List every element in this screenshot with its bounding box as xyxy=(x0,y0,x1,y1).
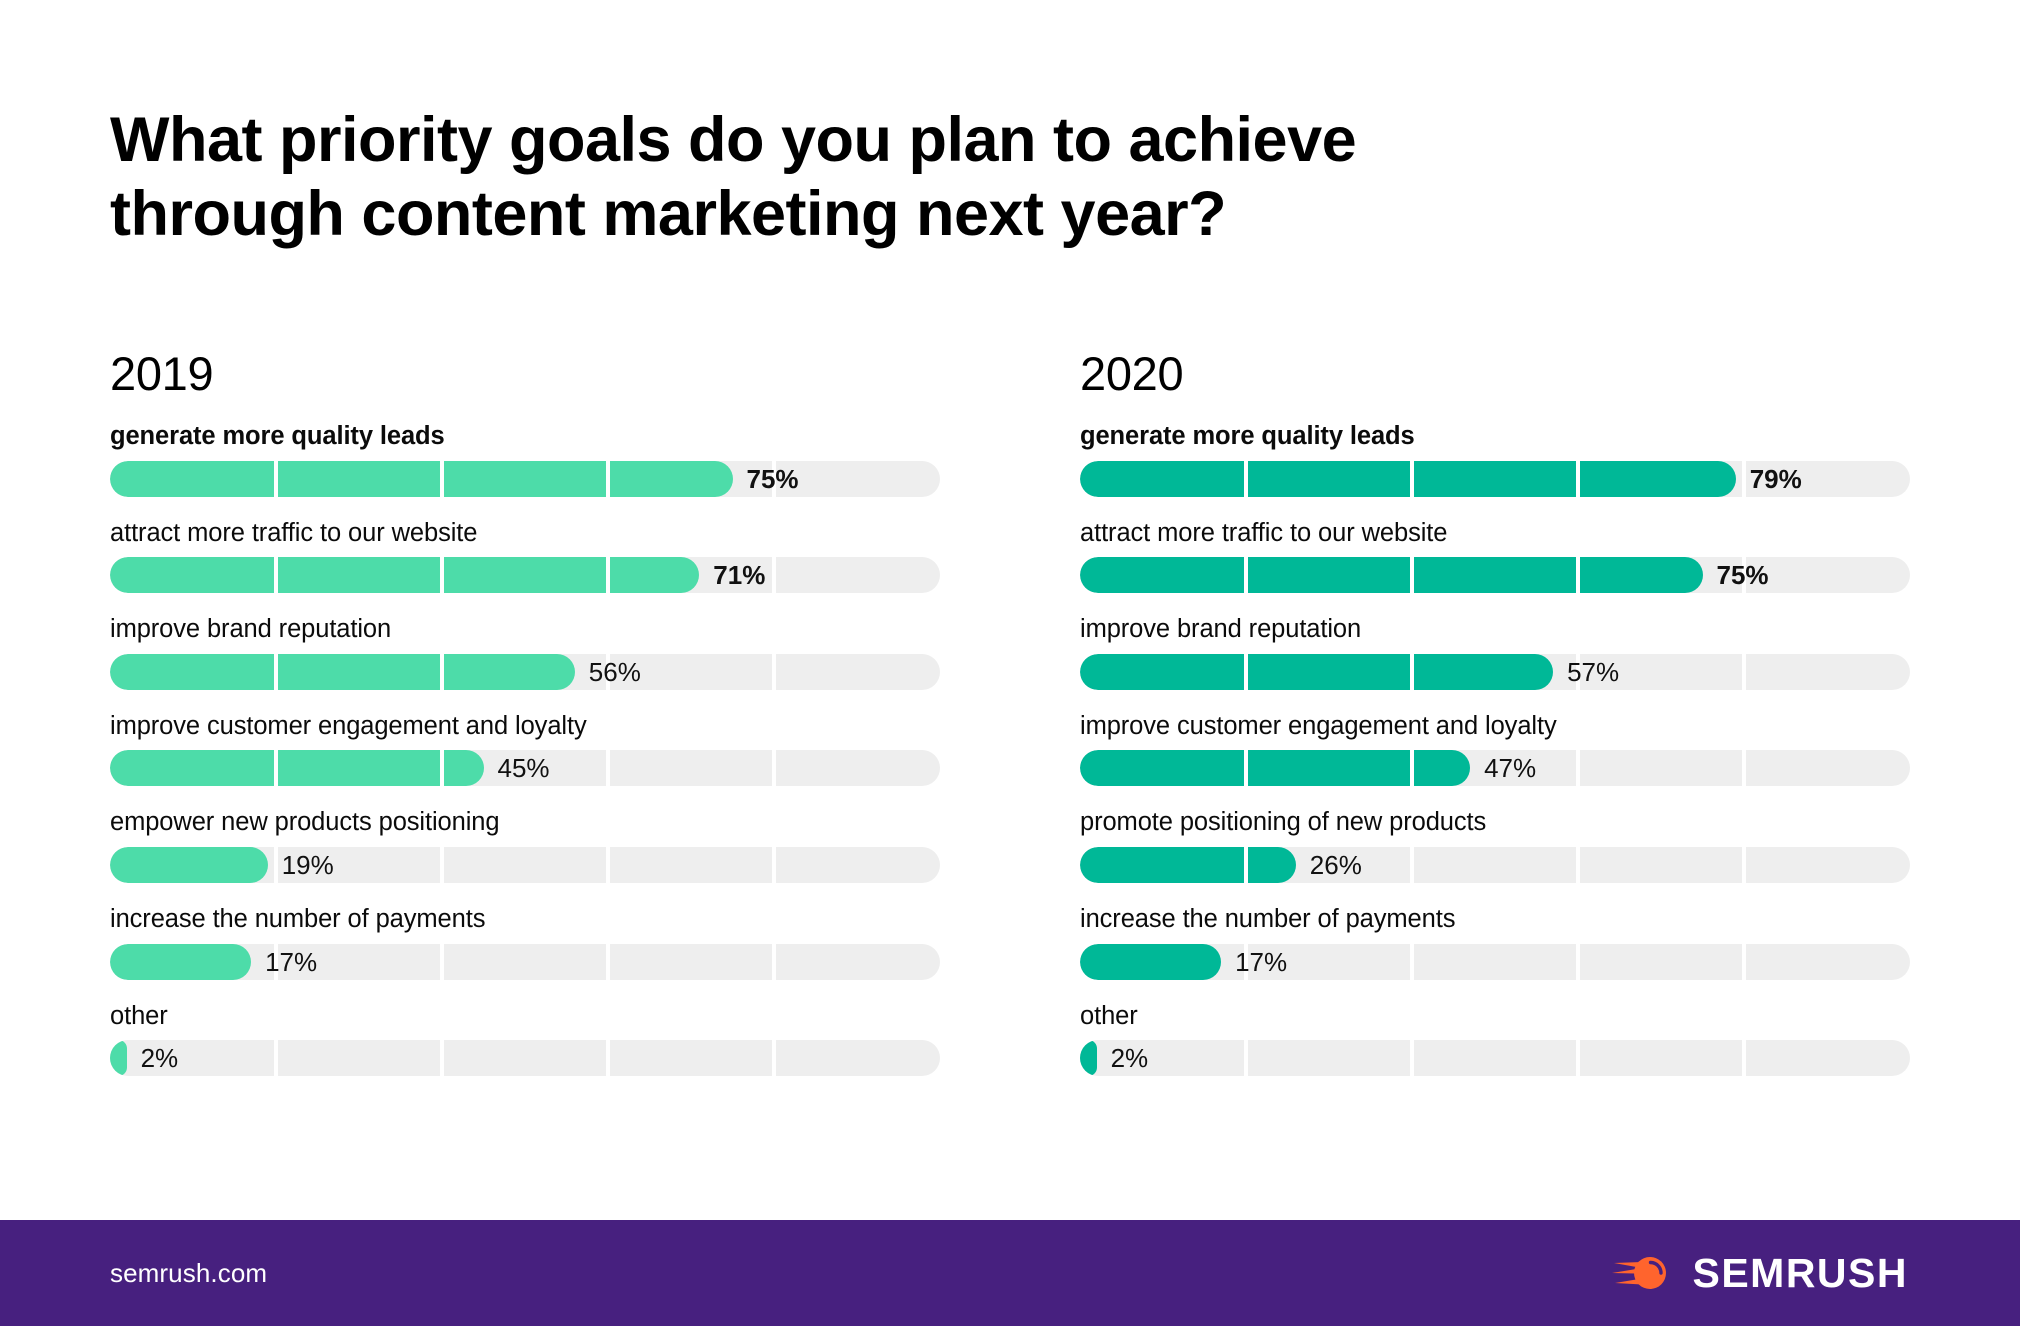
segment-divider xyxy=(606,1040,610,1076)
bar-row: other2% xyxy=(1080,1001,1910,1077)
bar-track: 57% xyxy=(1080,654,1910,690)
segment-divider xyxy=(1576,847,1580,883)
bar-row: improve brand reputation57% xyxy=(1080,614,1910,690)
bar-fill xyxy=(110,557,699,593)
segment-divider xyxy=(440,847,444,883)
bar-value-label: 17% xyxy=(1221,944,1287,980)
bar-value-label: 75% xyxy=(733,461,799,497)
semrush-wordmark: SEMRUSH xyxy=(1692,1250,1908,1297)
bar-track: 17% xyxy=(110,944,940,980)
bar-fill xyxy=(1080,557,1703,593)
segment-divider xyxy=(772,750,776,786)
bar-row: empower new products positioning19% xyxy=(110,807,940,883)
bar-row: increase the number of payments17% xyxy=(1080,904,1910,980)
segment-divider xyxy=(1410,1040,1414,1076)
bar-track: 75% xyxy=(110,461,940,497)
bar-value-label: 75% xyxy=(1703,557,1769,593)
segment-divider xyxy=(1742,847,1746,883)
bar-track: 19% xyxy=(110,847,940,883)
footer-bar: semrush.com SEMRUSH xyxy=(0,1220,2020,1326)
segment-divider xyxy=(440,1040,444,1076)
page-title: What priority goals do you plan to achie… xyxy=(110,104,1830,251)
segment-divider xyxy=(772,557,776,593)
bar-fill xyxy=(110,750,484,786)
bar-fill xyxy=(110,1040,127,1076)
segment-divider xyxy=(1576,750,1580,786)
bar-track: 45% xyxy=(110,750,940,786)
year-column-2019: 2019generate more quality leads75%attrac… xyxy=(110,350,940,1076)
bar-value-label: 2% xyxy=(127,1040,179,1076)
year-heading: 2020 xyxy=(1080,350,1910,397)
segment-divider xyxy=(274,1040,278,1076)
semrush-logo[interactable]: SEMRUSH xyxy=(1612,1250,1908,1297)
year-column-2020: 2020generate more quality leads79%attrac… xyxy=(1080,350,1910,1076)
bar-fill xyxy=(110,654,575,690)
bar-value-label: 2% xyxy=(1097,1040,1149,1076)
bar-label: increase the number of payments xyxy=(110,904,940,935)
bar-label: increase the number of payments xyxy=(1080,904,1910,935)
segment-divider xyxy=(772,847,776,883)
bar-track: 2% xyxy=(1080,1040,1910,1076)
bar-row: promote positioning of new products26% xyxy=(1080,807,1910,883)
bar-row: increase the number of payments17% xyxy=(110,904,940,980)
bar-value-label: 17% xyxy=(251,944,317,980)
segment-divider xyxy=(1742,654,1746,690)
bar-value-label: 19% xyxy=(268,847,334,883)
bar-fill xyxy=(1080,944,1221,980)
footer-url[interactable]: semrush.com xyxy=(110,1258,267,1289)
segment-divider xyxy=(606,944,610,980)
bar-segment-dividers xyxy=(1080,1040,1910,1076)
bar-row: attract more traffic to our website75% xyxy=(1080,518,1910,594)
bar-label: other xyxy=(1080,1001,1910,1032)
bar-track: 47% xyxy=(1080,750,1910,786)
year-heading: 2019 xyxy=(110,350,940,397)
segment-divider xyxy=(1576,944,1580,980)
bar-fill xyxy=(1080,461,1736,497)
segment-divider xyxy=(1244,1040,1248,1076)
bar-row: other2% xyxy=(110,1001,940,1077)
bar-label: attract more traffic to our website xyxy=(110,518,940,549)
bar-label: generate more quality leads xyxy=(1080,421,1910,452)
bar-value-label: 45% xyxy=(484,750,550,786)
infographic-canvas: What priority goals do you plan to achie… xyxy=(0,0,2020,1326)
segment-divider xyxy=(772,944,776,980)
bar-row: generate more quality leads75% xyxy=(110,421,940,497)
segment-divider xyxy=(772,654,776,690)
bar-track: 17% xyxy=(1080,944,1910,980)
bar-fill xyxy=(1080,847,1296,883)
segment-divider xyxy=(440,944,444,980)
bar-label: improve brand reputation xyxy=(1080,614,1910,645)
bar-label: other xyxy=(110,1001,940,1032)
bar-fill xyxy=(1080,1040,1097,1076)
segment-divider xyxy=(772,1040,776,1076)
bar-label: attract more traffic to our website xyxy=(1080,518,1910,549)
bar-track: 56% xyxy=(110,654,940,690)
segment-divider xyxy=(1576,1040,1580,1076)
bar-fill xyxy=(110,944,251,980)
bar-fill xyxy=(110,461,733,497)
segment-divider xyxy=(1742,944,1746,980)
bar-label: improve brand reputation xyxy=(110,614,940,645)
segment-divider xyxy=(1410,944,1414,980)
bar-track: 71% xyxy=(110,557,940,593)
bar-track: 26% xyxy=(1080,847,1910,883)
bar-value-label: 26% xyxy=(1296,847,1362,883)
bar-label: generate more quality leads xyxy=(110,421,940,452)
bar-value-label: 71% xyxy=(699,557,765,593)
bar-value-label: 47% xyxy=(1470,750,1536,786)
bar-row: improve customer engagement and loyalty4… xyxy=(110,711,940,787)
bar-label: empower new products positioning xyxy=(110,807,940,838)
bar-row: improve customer engagement and loyalty4… xyxy=(1080,711,1910,787)
segment-divider xyxy=(1742,750,1746,786)
bar-row: generate more quality leads79% xyxy=(1080,421,1910,497)
bar-label: improve customer engagement and loyalty xyxy=(110,711,940,742)
segment-divider xyxy=(606,750,610,786)
bar-label: promote positioning of new products xyxy=(1080,807,1910,838)
segment-divider xyxy=(606,847,610,883)
chart-columns: 2019generate more quality leads75%attrac… xyxy=(110,350,1910,1076)
bar-row: attract more traffic to our website71% xyxy=(110,518,940,594)
bar-track: 75% xyxy=(1080,557,1910,593)
bar-track: 79% xyxy=(1080,461,1910,497)
bar-fill xyxy=(110,847,268,883)
bar-value-label: 57% xyxy=(1553,654,1619,690)
bar-row: improve brand reputation56% xyxy=(110,614,940,690)
bar-track: 2% xyxy=(110,1040,940,1076)
segment-divider xyxy=(1410,847,1414,883)
bar-fill xyxy=(1080,750,1470,786)
segment-divider xyxy=(1742,1040,1746,1076)
bar-value-label: 56% xyxy=(575,654,641,690)
bar-fill xyxy=(1080,654,1553,690)
bar-value-label: 79% xyxy=(1736,461,1802,497)
bar-label: improve customer engagement and loyalty xyxy=(1080,711,1910,742)
semrush-comet-icon xyxy=(1612,1251,1674,1295)
bar-segment-dividers xyxy=(110,1040,940,1076)
